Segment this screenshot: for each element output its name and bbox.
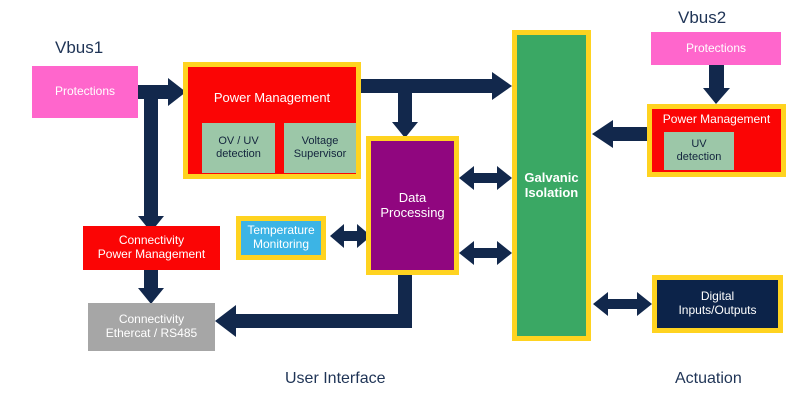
block-protections-vbus2[interactable]: Protections xyxy=(651,32,781,65)
arrowhead-connectivity-pm-to-ethercat xyxy=(138,288,164,304)
block-temperature-monitoring[interactable]: Temperature Monitoring xyxy=(236,216,326,260)
block-voltage-supervisor-line2: Supervisor xyxy=(284,148,356,161)
block-galvanic-isolation-line1: Galvanic xyxy=(517,171,586,186)
arrowhead-power-management2-to-galvanic xyxy=(592,120,613,148)
double-arrow-galvanic-to-digital-io xyxy=(593,292,652,316)
block-temperature-monitoring-line1: Temperature xyxy=(241,224,321,238)
double-arrow-data-processing-to-galvanic-upper xyxy=(459,166,512,190)
block-digital-inputs-outputs[interactable]: Digital Inputs/Outputs xyxy=(652,275,783,333)
block-data-processing-line1: Data xyxy=(371,191,454,206)
block-diagram-canvas: Vbus1 Vbus2 User Interface Actuation Pro… xyxy=(0,0,806,409)
block-uv-detection[interactable]: UV detection xyxy=(664,132,734,170)
wire-branch-to-data-processing xyxy=(398,86,412,122)
arrow-protections1-to-power-management1 xyxy=(136,78,186,106)
block-connectivity-power-management-line2: Power Management xyxy=(83,248,220,262)
block-uv-detection-line2: detection xyxy=(664,151,734,164)
block-galvanic-isolation-line2: Isolation xyxy=(517,186,586,201)
block-connectivity-ethercat-line2: Ethercat / RS485 xyxy=(88,327,215,341)
block-connectivity-ethercat-line1: Connectivity xyxy=(88,313,215,327)
block-galvanic-isolation[interactable]: Galvanic Isolation xyxy=(512,30,591,341)
block-connectivity-ethercat-rs485[interactable]: Connectivity Ethercat / RS485 xyxy=(88,303,215,351)
block-protections-vbus1-label: Protections xyxy=(32,85,138,99)
wire-power-management1-to-galvanic xyxy=(360,79,492,93)
wire-connectivity-pm-to-ethercat xyxy=(144,269,158,288)
arrowhead-to-connectivity-ethercat xyxy=(215,305,236,337)
label-vbus1: Vbus1 xyxy=(55,38,103,58)
block-temperature-monitoring-line2: Monitoring xyxy=(241,238,321,252)
block-data-processing[interactable]: Data Processing xyxy=(366,136,459,275)
double-arrow-temperature-to-data-processing xyxy=(330,224,371,248)
block-protections-vbus2-label: Protections xyxy=(651,42,781,56)
block-digital-io-line2: Inputs/Outputs xyxy=(657,304,778,318)
block-connectivity-power-management-line1: Connectivity xyxy=(83,234,220,248)
block-power-management-2-label: Power Management xyxy=(652,113,781,127)
wire-protections1-branch-vertical xyxy=(144,85,158,216)
arrowhead-power-management1-to-galvanic xyxy=(492,72,512,100)
label-user-interface: User Interface xyxy=(285,370,385,388)
block-uv-detection-line1: UV xyxy=(664,138,734,151)
block-protections-vbus1[interactable]: Protections xyxy=(32,66,138,118)
block-ov-uv-detection-line2: detection xyxy=(202,148,275,161)
block-power-management-2[interactable]: Power Management UV detection xyxy=(647,104,786,177)
block-digital-io-line1: Digital xyxy=(657,290,778,304)
label-actuation: Actuation xyxy=(675,370,742,388)
block-voltage-supervisor-line1: Voltage xyxy=(284,135,356,148)
block-data-processing-line2: Processing xyxy=(371,206,454,221)
label-vbus2: Vbus2 xyxy=(678,8,726,28)
double-arrow-data-processing-to-galvanic-lower xyxy=(459,241,512,265)
block-power-management-1[interactable]: Power Management OV / UV detection Volta… xyxy=(183,62,361,179)
block-ov-uv-detection[interactable]: OV / UV detection xyxy=(202,123,275,173)
arrowhead-protections2-to-power-management2 xyxy=(703,88,730,104)
wire-protections2-to-power-management2 xyxy=(709,65,724,88)
wire-power-management2-to-galvanic xyxy=(613,127,648,141)
block-voltage-supervisor[interactable]: Voltage Supervisor xyxy=(284,123,356,173)
wire-data-processing-to-ethercat-horizontal xyxy=(236,314,412,328)
block-power-management-1-label: Power Management xyxy=(188,91,356,106)
block-connectivity-power-management[interactable]: Connectivity Power Management xyxy=(83,226,220,270)
block-ov-uv-detection-line1: OV / UV xyxy=(202,135,275,148)
